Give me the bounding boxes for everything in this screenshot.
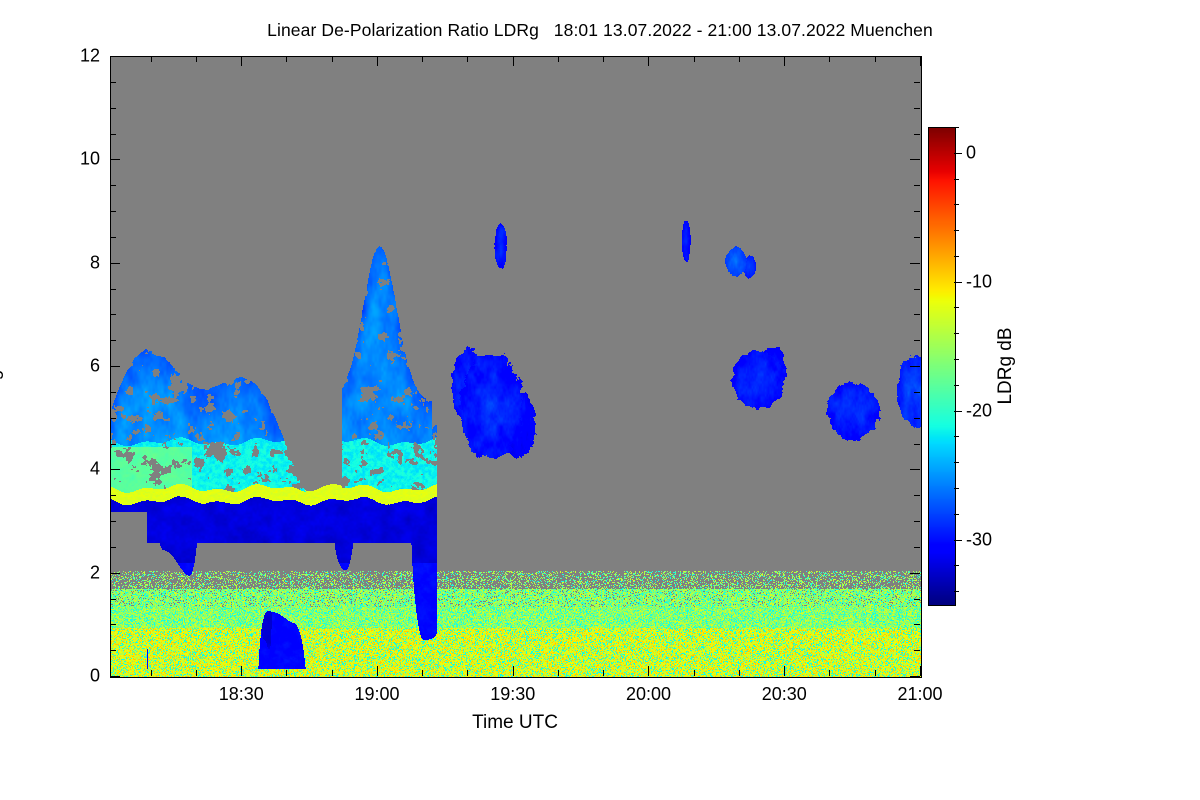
x-axis-tick (286, 56, 287, 62)
y-axis-tick (910, 366, 920, 367)
x-axis-tick (286, 670, 287, 676)
x-tick-label: 20:30 (762, 684, 807, 705)
colorbar-tick (954, 462, 959, 463)
colorbar-tick (954, 333, 959, 334)
colorbar-tick (954, 591, 959, 592)
colorbar-tick (954, 565, 959, 566)
y-axis-tick (914, 134, 920, 135)
x-tick-label: 19:30 (490, 684, 535, 705)
y-axis-tick (914, 650, 920, 651)
y-axis-tick (110, 211, 116, 212)
x-axis-tick (151, 670, 152, 676)
colorbar[interactable] (928, 127, 956, 606)
page-title: Linear De-Polarization Ratio LDRg 18:01 … (0, 20, 1200, 41)
colorbar-tick (954, 540, 962, 541)
y-axis-tick (914, 340, 920, 341)
y-axis-tick (914, 392, 920, 393)
x-axis-tick (467, 670, 468, 676)
heatmap-plot-area[interactable] (110, 56, 922, 678)
y-axis-tick (110, 159, 120, 160)
y-axis-tick (110, 547, 116, 548)
y-axis-tick (110, 340, 116, 341)
colorbar-tick-label: -10 (966, 271, 992, 292)
x-axis-tick (151, 56, 152, 62)
x-axis-tick (513, 666, 514, 676)
y-axis-tick (914, 444, 920, 445)
y-axis-tick (914, 495, 920, 496)
radar-ldr-quicklook: Linear De-Polarization Ratio LDRg 18:01 … (0, 0, 1200, 800)
y-tick-label: 2 (90, 562, 100, 583)
colorbar-title: LDRg dB (995, 327, 1017, 404)
y-axis-tick (110, 237, 116, 238)
x-axis-tick (829, 56, 830, 62)
y-axis-tick (110, 56, 120, 57)
x-axis-tick (241, 56, 242, 66)
y-axis-tick (910, 56, 920, 57)
x-axis-tick (422, 56, 423, 62)
y-axis-tick-labels: 024681012 (0, 56, 100, 676)
y-axis-tick (110, 650, 116, 651)
y-axis-tick (110, 521, 116, 522)
x-axis-tick (558, 56, 559, 62)
x-axis-tick (739, 56, 740, 62)
x-axis-tick (694, 56, 695, 62)
x-axis-tick (241, 666, 242, 676)
colorbar-tick (954, 230, 959, 231)
y-axis-tick (110, 624, 116, 625)
y-axis-tick (914, 211, 920, 212)
y-axis-title: Height km (0, 276, 5, 456)
x-tick-label: 18:30 (219, 684, 264, 705)
colorbar-tick (954, 153, 962, 154)
y-axis-tick (914, 314, 920, 315)
x-axis-tick (784, 56, 785, 66)
y-tick-label: 12 (80, 46, 100, 67)
colorbar-tick (954, 436, 959, 437)
y-axis-tick (110, 289, 116, 290)
x-axis-tick (603, 56, 604, 62)
y-tick-label: 10 (80, 149, 100, 170)
colorbar-tick-label: -20 (966, 400, 992, 421)
colorbar-tick (954, 411, 962, 412)
y-axis-tick (914, 289, 920, 290)
x-axis-tick (784, 666, 785, 676)
colorbar-tick (954, 127, 959, 128)
y-axis-tick (910, 573, 920, 574)
colorbar-tick (954, 307, 959, 308)
colorbar-tick (954, 385, 959, 386)
y-axis-tick (110, 418, 116, 419)
y-tick-label: 4 (90, 459, 100, 480)
y-axis-tick (914, 547, 920, 548)
y-axis-tick (914, 624, 920, 625)
y-axis-tick (110, 185, 116, 186)
ldr-heatmap-canvas[interactable] (111, 57, 921, 677)
x-axis-tick (377, 666, 378, 676)
colorbar-tick (954, 359, 959, 360)
y-axis-tick (914, 185, 920, 186)
x-axis-tick (739, 670, 740, 676)
y-axis-tick (914, 237, 920, 238)
y-axis-tick (110, 469, 120, 470)
x-axis-tick (558, 670, 559, 676)
y-axis-tick (110, 573, 120, 574)
x-axis-tick (920, 56, 921, 66)
y-tick-label: 6 (90, 356, 100, 377)
x-tick-label: 20:00 (626, 684, 671, 705)
y-axis-tick (110, 444, 116, 445)
x-axis-tick (920, 666, 921, 676)
colorbar-gradient (929, 128, 955, 605)
y-tick-label: 0 (90, 666, 100, 687)
y-axis-tick (914, 521, 920, 522)
x-axis-tick (422, 670, 423, 676)
x-axis-tick (875, 670, 876, 676)
x-axis-tick (332, 56, 333, 62)
y-tick-label: 8 (90, 252, 100, 273)
y-axis-tick (110, 314, 116, 315)
x-tick-label: 19:00 (354, 684, 399, 705)
y-axis-tick (110, 366, 120, 367)
y-axis-tick (110, 263, 120, 264)
x-axis-tick (332, 670, 333, 676)
y-axis-tick (110, 82, 116, 83)
x-axis-title: Time UTC (472, 712, 558, 734)
y-axis-tick (110, 392, 116, 393)
y-axis-tick (110, 676, 120, 677)
x-axis-tick (829, 670, 830, 676)
colorbar-tick (954, 488, 959, 489)
colorbar-tick-label: 0 (966, 142, 976, 163)
x-axis-tick (648, 666, 649, 676)
y-axis-tick (910, 159, 920, 160)
x-axis-tick (513, 56, 514, 66)
x-axis-tick (467, 56, 468, 62)
y-axis-tick (914, 599, 920, 600)
x-axis-tick (196, 56, 197, 62)
y-axis-tick (910, 469, 920, 470)
y-axis-tick (110, 599, 116, 600)
y-axis-tick (110, 134, 116, 135)
y-axis-tick (910, 263, 920, 264)
y-axis-tick (914, 418, 920, 419)
x-tick-label: 21:00 (897, 684, 942, 705)
colorbar-tick (954, 179, 959, 180)
y-axis-tick (910, 676, 920, 677)
y-axis-tick (914, 108, 920, 109)
x-axis-tick (648, 56, 649, 66)
y-axis-tick (110, 108, 116, 109)
y-axis-tick (914, 82, 920, 83)
colorbar-tick-label: -30 (966, 529, 992, 550)
colorbar-tick (954, 256, 959, 257)
y-axis-tick (110, 495, 116, 496)
colorbar-tick (954, 514, 959, 515)
x-axis-tick (377, 56, 378, 66)
x-axis-tick (603, 670, 604, 676)
colorbar-tick (954, 204, 959, 205)
x-axis-tick (694, 670, 695, 676)
x-axis-tick (875, 56, 876, 62)
x-axis-tick (196, 670, 197, 676)
colorbar-tick (954, 282, 962, 283)
